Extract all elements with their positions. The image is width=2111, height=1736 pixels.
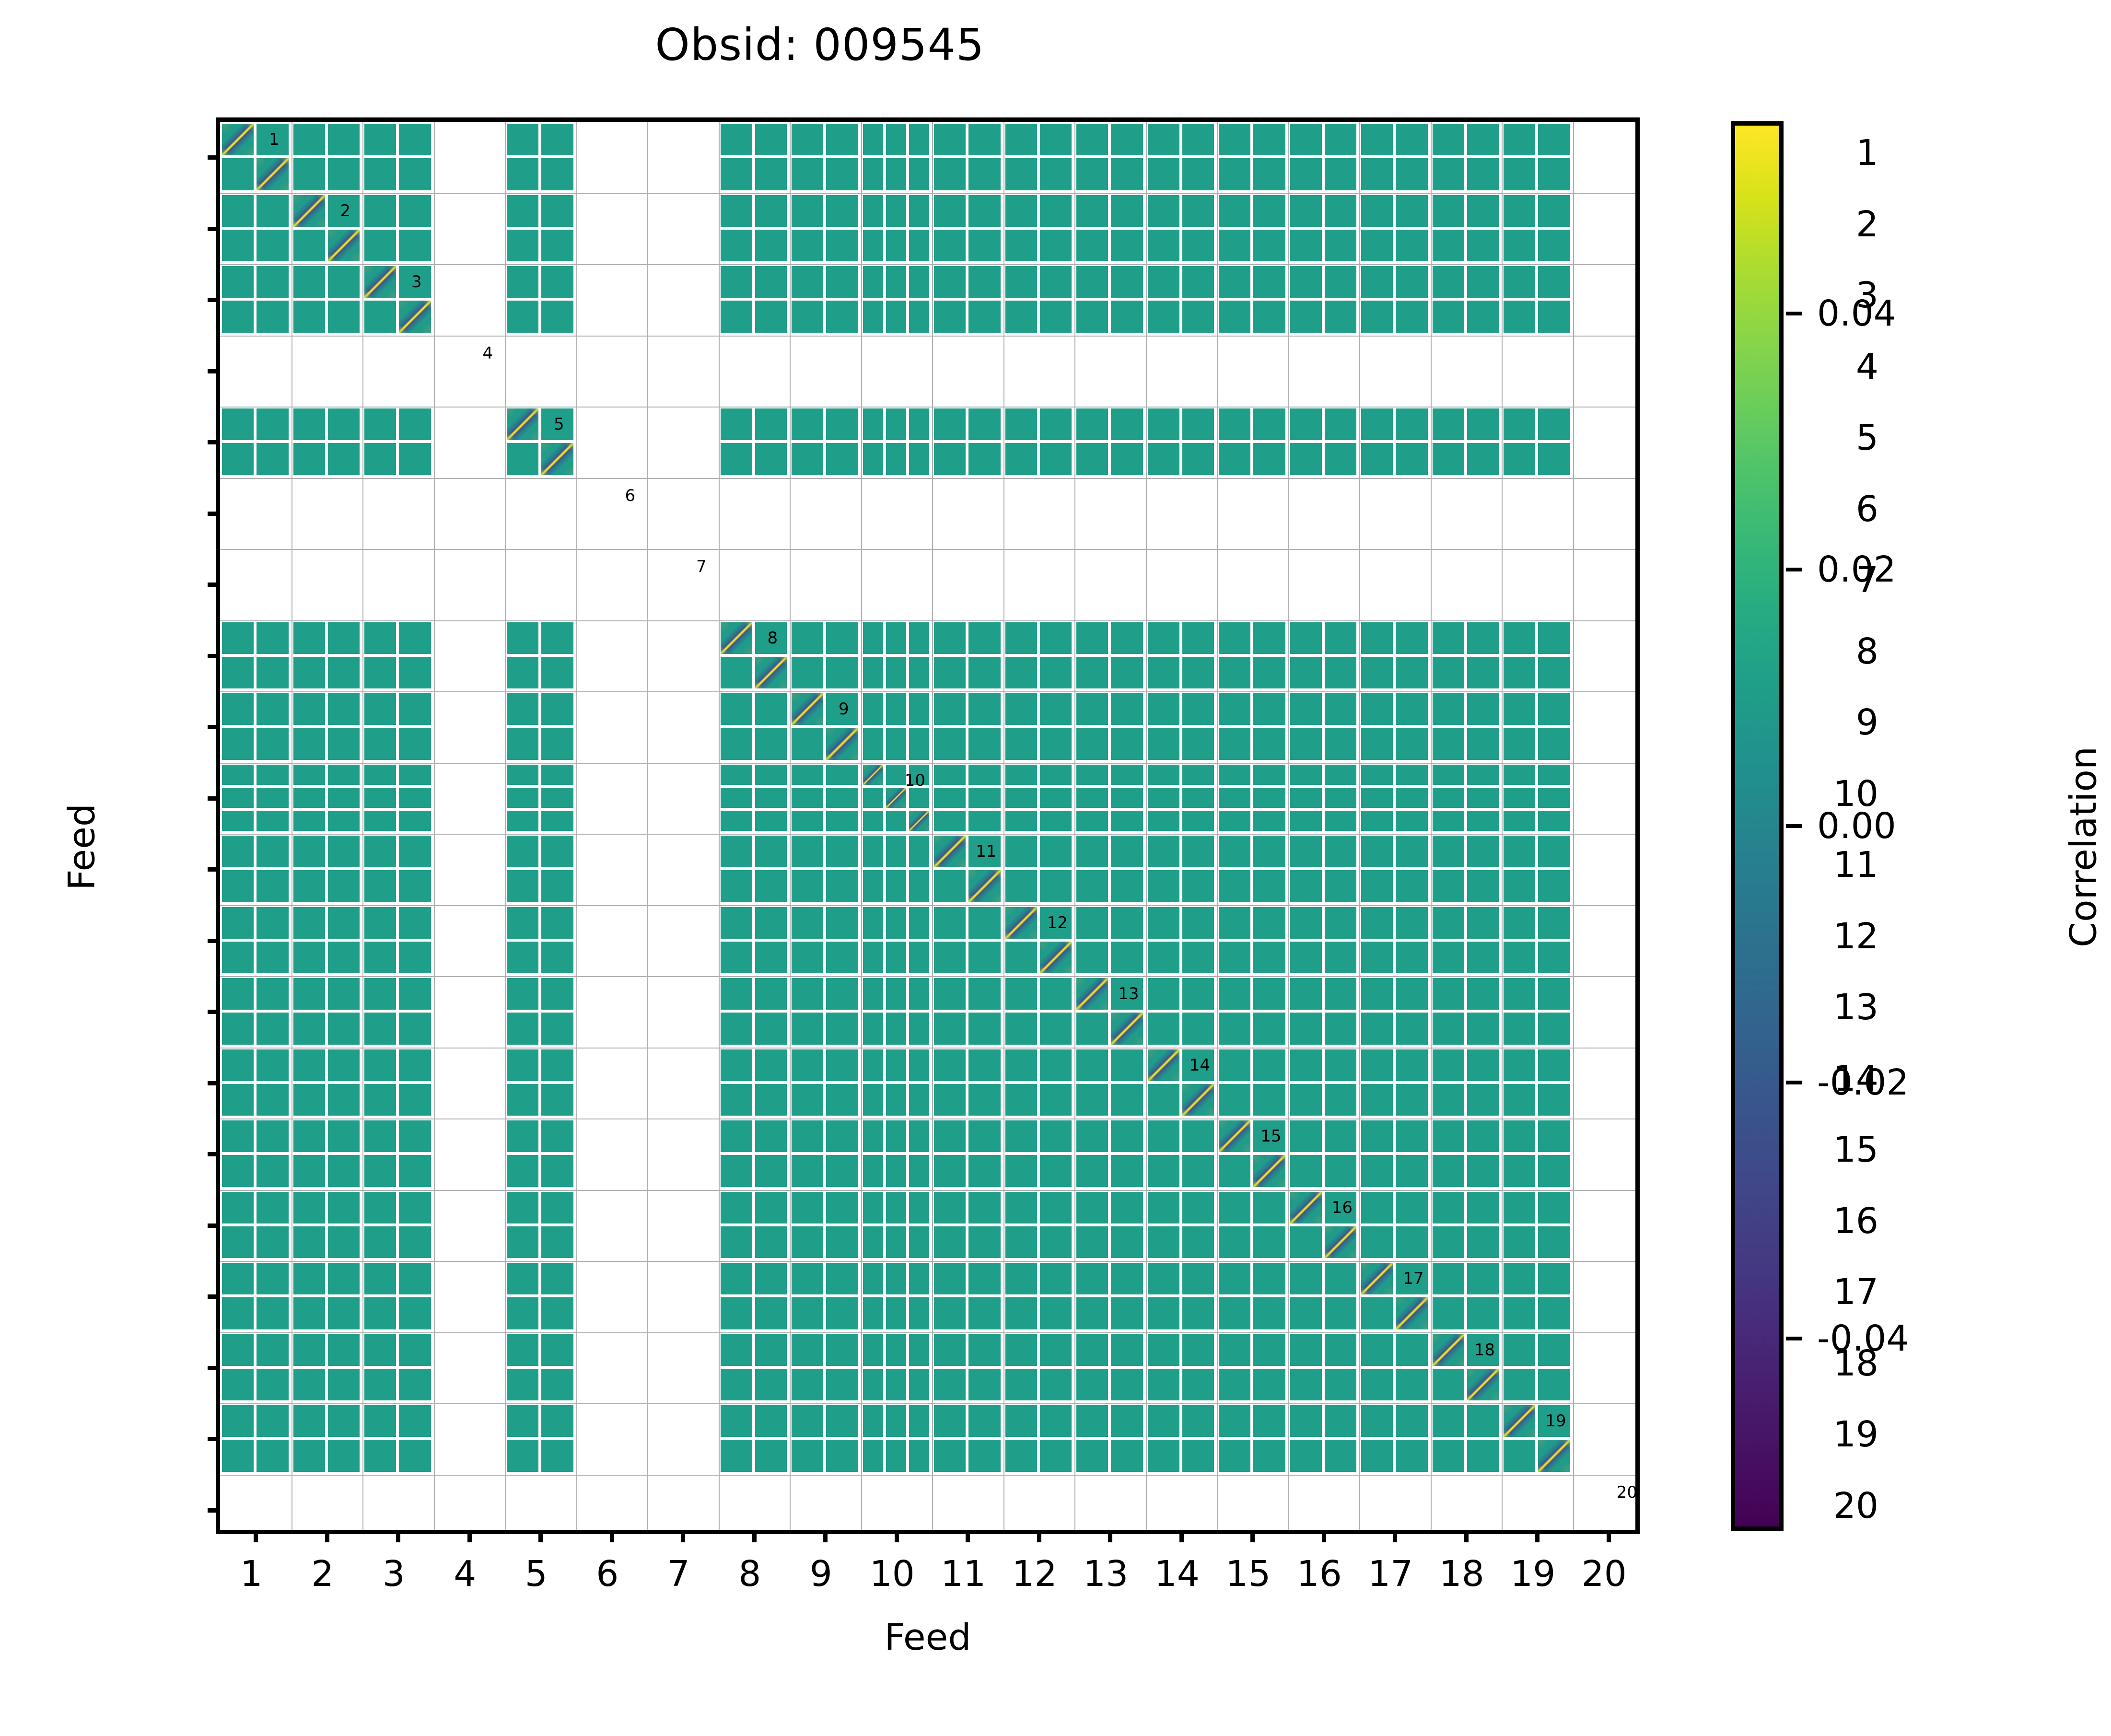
gridline-vertical [576,122,577,1530]
matrix-cell [1325,1263,1356,1294]
matrix-cell [328,870,360,902]
matrix-cell [863,124,883,155]
matrix-cell [1433,1369,1464,1400]
matrix-cell [399,765,431,785]
colorbar-tick-label: 0.04 [1817,293,1896,334]
matrix-cell [257,693,288,725]
matrix-cell [222,1192,254,1223]
matrix-cell [909,301,929,332]
x-axis-tick-label: 19 [1510,1553,1555,1595]
matrix-cell [1504,1334,1535,1366]
gridline-horizontal [220,1048,1635,1049]
matrix-cell [1538,230,1570,261]
matrix-cell [507,765,538,785]
matrix-cell [1538,124,1570,155]
matrix-cell [399,1155,431,1187]
matrix-cell [1005,1440,1037,1471]
matrix-cell [1325,301,1356,332]
matrix-cell [826,408,858,440]
matrix-cell-diagonal [293,195,325,227]
matrix-cell [1219,195,1250,227]
matrix-cell [1538,1369,1570,1400]
matrix-cell [1467,158,1499,190]
matrix-cell [968,158,1000,190]
x-axis-tick [467,1530,472,1542]
matrix-cell [1467,195,1499,227]
matrix-cell [934,1369,966,1400]
matrix-cell [1040,230,1072,261]
matrix-cell [1111,1263,1143,1294]
x-axis-tick-label: 12 [1012,1553,1057,1595]
matrix-cell [1219,1405,1250,1437]
matrix-cell [541,1013,573,1044]
matrix-cell [1005,1405,1037,1437]
matrix-cell [1148,124,1179,155]
matrix-cell [541,230,573,261]
matrix-cell [1219,870,1250,902]
matrix-cell [1325,1013,1356,1044]
matrix-cell [257,1440,288,1471]
matrix-cell [1148,907,1179,939]
feed-number-annotation: 20 [1617,1484,1637,1501]
matrix-cell [886,124,906,155]
matrix-cell [1253,870,1285,902]
matrix-cell [1076,870,1108,902]
matrix-cell [863,811,883,831]
matrix-cell-diagonal [1467,1369,1499,1400]
x-axis-tick [1464,1530,1469,1542]
matrix-cell [399,657,431,688]
matrix-cell [1005,693,1037,725]
colorbar-tick [1786,1081,1802,1084]
matrix-cell [721,1192,752,1223]
matrix-cell [1005,811,1037,831]
x-axis-tick [823,1530,828,1542]
matrix-cell [1396,230,1427,261]
matrix-cell-diagonal [934,836,966,867]
matrix-cell [792,978,823,1010]
matrix-cell [1148,443,1179,475]
matrix-cell [328,124,360,155]
y-axis-tick [208,1152,220,1156]
matrix-cell [1040,1405,1072,1437]
matrix-cell [968,266,1000,298]
x-axis-tick-label: 9 [810,1553,832,1595]
matrix-cell-diagonal [1040,942,1072,973]
matrix-cell [721,978,752,1010]
matrix-cell [1361,1049,1393,1081]
matrix-cell [1182,811,1214,831]
matrix-cell [507,811,538,831]
matrix-cell [1396,1226,1427,1258]
x-axis-tick [1037,1530,1041,1542]
matrix-cell [1504,1155,1535,1187]
matrix-cell [1504,408,1535,440]
matrix-cell [399,978,431,1010]
matrix-cell [968,1049,1000,1081]
matrix-cell [1290,1405,1322,1437]
matrix-cell-diagonal [1076,978,1108,1010]
matrix-cell [1148,408,1179,440]
matrix-cell [364,1405,396,1437]
heatmap-axes: 1234567891011121314151617181920 [216,117,1640,1534]
feed-number-annotation: 2 [340,203,351,219]
matrix-cell [968,1120,1000,1152]
matrix-cell [755,1334,787,1366]
matrix-cell [1325,1405,1356,1437]
matrix-cell [863,907,883,939]
matrix-cell [934,693,966,725]
matrix-cell [257,301,288,332]
matrix-cell [826,1192,858,1223]
matrix-cell [1290,443,1322,475]
x-axis-tick [1108,1530,1112,1542]
y-axis-tick [208,1010,220,1014]
matrix-cell [1467,1297,1499,1329]
matrix-cell [399,870,431,902]
matrix-cell [1111,1155,1143,1187]
x-axis-tick-label: 6 [596,1553,618,1595]
matrix-cell [1325,158,1356,190]
matrix-cell [863,1405,883,1437]
matrix-cell [507,1334,538,1366]
matrix-cell [755,728,787,759]
matrix-cell [257,1013,288,1044]
matrix-cell-diagonal [1396,1297,1427,1329]
matrix-cell [1182,158,1214,190]
matrix-cell [1504,1226,1535,1258]
matrix-cell [1111,1369,1143,1400]
matrix-cell [328,942,360,973]
matrix-cell [328,622,360,654]
matrix-cell [1219,728,1250,759]
feed-number-annotation: 7 [696,559,707,575]
matrix-cell [1467,408,1499,440]
matrix-cell [1325,1084,1356,1116]
matrix-cell [541,907,573,939]
matrix-cell [826,907,858,939]
matrix-cell [293,1084,325,1116]
feed-number-annotation: 13 [1118,986,1139,1002]
matrix-cell [222,1263,254,1294]
matrix-cell [507,1405,538,1437]
matrix-cell [1148,836,1179,867]
matrix-cell [1111,158,1143,190]
matrix-cell [399,1405,431,1437]
matrix-cell [507,1192,538,1223]
matrix-cell [257,978,288,1010]
matrix-cell [721,1369,752,1400]
matrix-cell [1148,657,1179,688]
matrix-cell [222,811,254,831]
matrix-cell [1111,1226,1143,1258]
x-axis-tick-label: 16 [1297,1553,1342,1595]
matrix-cell [1467,765,1499,785]
matrix-cell [399,1084,431,1116]
matrix-cell [721,942,752,973]
matrix-cell [1182,978,1214,1010]
x-axis-tick-label: 10 [870,1553,915,1595]
matrix-cell [364,1013,396,1044]
matrix-cell [399,1369,431,1400]
y-axis-tick [208,725,220,729]
matrix-cell-diagonal [1182,1084,1214,1116]
matrix-cell [1504,765,1535,785]
gridline-horizontal [220,264,1635,265]
matrix-cell [293,1440,325,1471]
matrix-cell [399,1263,431,1294]
matrix-cell [507,978,538,1010]
matrix-cell [1182,1405,1214,1437]
matrix-cell [1325,1369,1356,1400]
matrix-cell [826,1049,858,1081]
matrix-cell [399,1120,431,1152]
matrix-cell [1433,1155,1464,1187]
matrix-cell [1538,693,1570,725]
matrix-cell [1433,1226,1464,1258]
matrix-cell [1538,1226,1570,1258]
matrix-cell [1040,811,1072,831]
matrix-cell [1433,907,1464,939]
matrix-cell [399,1297,431,1329]
matrix-cell [257,266,288,298]
matrix-cell [541,1334,573,1366]
matrix-cell [909,1369,929,1400]
x-axis-tick [1250,1530,1255,1542]
matrix-cell [886,443,906,475]
matrix-cell [886,230,906,261]
matrix-cell [886,693,906,725]
matrix-cell [1182,728,1214,759]
matrix-cell [826,657,858,688]
y-axis-tick-label: 5 [1856,417,1878,458]
matrix-cell [257,788,288,808]
matrix-cell [1433,811,1464,831]
x-axis-tick-label: 17 [1368,1553,1413,1595]
matrix-cell [886,942,906,973]
matrix-cell [721,1263,752,1294]
matrix-cell [1467,124,1499,155]
matrix-cell [293,788,325,808]
matrix-cell [1433,124,1464,155]
matrix-cell [792,1192,823,1223]
matrix-cell [328,1013,360,1044]
matrix-cell [1538,1192,1570,1223]
matrix-cell [934,788,966,808]
matrix-cell [886,811,906,831]
matrix-cell [1148,1440,1179,1471]
matrix-cell [328,836,360,867]
matrix-cell [328,765,360,785]
matrix-cell [1219,1297,1250,1329]
matrix-cell [1219,230,1250,261]
matrix-cell [399,1334,431,1366]
matrix-cell [721,1155,752,1187]
matrix-cell [886,622,906,654]
matrix-cell [1040,693,1072,725]
matrix-cell [1040,1049,1072,1081]
matrix-cell [1040,978,1072,1010]
matrix-cell [1253,1049,1285,1081]
matrix-cell [1253,1297,1285,1329]
matrix-cell [1253,811,1285,831]
matrix-cell [968,907,1000,939]
matrix-cell [293,408,325,440]
matrix-cell [1148,765,1179,785]
matrix-cell [1396,158,1427,190]
matrix-cell [1182,1334,1214,1366]
matrix-cell [1040,728,1072,759]
matrix-cell [721,443,752,475]
y-axis-tick [208,369,220,373]
x-axis-tick [1607,1530,1611,1542]
matrix-cell [257,657,288,688]
matrix-cell [1111,1405,1143,1437]
colorbar-tick [1786,824,1802,828]
matrix-cell [934,622,966,654]
gridline-vertical [932,122,933,1530]
y-axis-tick [208,1508,220,1513]
matrix-cell [826,836,858,867]
matrix-cell [1005,124,1037,155]
matrix-cell [1219,1084,1250,1116]
matrix-cell [399,230,431,261]
matrix-cell [1361,1334,1393,1366]
matrix-cell [541,836,573,867]
matrix-cell [826,622,858,654]
matrix-cell [909,693,929,725]
matrix-cell [1111,942,1143,973]
matrix-cell [721,788,752,808]
matrix-cell [863,870,883,902]
matrix-cell-diagonal [863,765,883,785]
matrix-cell [222,1226,254,1258]
matrix-cell [1504,195,1535,227]
matrix-cell [1433,1120,1464,1152]
matrix-cell [1076,443,1108,475]
matrix-cell [1325,811,1356,831]
matrix-cell [886,1084,906,1116]
matrix-cell [909,1084,929,1116]
matrix-cell [364,230,396,261]
colorbar-tick-label: 0.00 [1817,805,1896,847]
gridline-vertical [1217,122,1218,1530]
matrix-cell [1467,907,1499,939]
matrix-cell-diagonal [328,230,360,261]
matrix-cell [1111,408,1143,440]
gridline-horizontal [220,1475,1635,1476]
x-axis-tick [966,1530,970,1542]
x-axis-tick [396,1530,400,1542]
matrix-cell [1182,657,1214,688]
matrix-cell [257,1263,288,1294]
feed-number-annotation: 17 [1403,1270,1423,1287]
matrix-cell [886,301,906,332]
matrix-cell [909,266,929,298]
matrix-cell [1361,811,1393,831]
matrix-cell [1040,408,1072,440]
matrix-cell [1076,788,1108,808]
matrix-cell [792,1226,823,1258]
matrix-cell [1504,124,1535,155]
matrix-cell [1005,1334,1037,1366]
matrix-cell [1467,978,1499,1010]
matrix-cell [721,1405,752,1437]
matrix-cell [721,1049,752,1081]
matrix-cell [399,907,431,939]
matrix-cell-diagonal [507,408,538,440]
matrix-cell [934,765,966,785]
matrix-cell [257,836,288,867]
matrix-cell [934,230,966,261]
matrix-cell [1290,811,1322,831]
matrix-cell [1111,693,1143,725]
matrix-cell [1219,124,1250,155]
matrix-cell [1076,907,1108,939]
gridline-vertical [861,122,862,1530]
matrix-cell [1504,1120,1535,1152]
feed-number-annotation: 5 [554,416,564,432]
matrix-cell [909,158,929,190]
matrix-cell [364,1334,396,1366]
matrix-cell [909,1440,929,1471]
matrix-cell [1005,1084,1037,1116]
matrix-cell [293,870,325,902]
matrix-cell [1467,728,1499,759]
matrix-cell [721,728,752,759]
matrix-cell [541,693,573,725]
matrix-cell [792,622,823,654]
matrix-cell [755,1405,787,1437]
matrix-cell [1182,1120,1214,1152]
correlation-matrix: 1234567891011121314151617181920 [220,122,1635,1530]
matrix-cell [1076,408,1108,440]
y-axis-tick-label: 11 [1833,844,1878,885]
matrix-cell [1219,1334,1250,1366]
matrix-cell [1396,301,1427,332]
gridline-horizontal [220,834,1635,835]
matrix-cell [1361,124,1393,155]
matrix-cell [364,942,396,973]
matrix-cell [792,811,823,831]
matrix-cell [1325,657,1356,688]
matrix-cell [328,1226,360,1258]
matrix-cell [934,1049,966,1081]
matrix-cell [364,1192,396,1223]
matrix-cell [968,1405,1000,1437]
matrix-cell [1148,1192,1179,1223]
matrix-cell [1040,1013,1072,1044]
matrix-cell [886,1297,906,1329]
matrix-cell [1396,1405,1427,1437]
matrix-cell [1504,230,1535,261]
colorbar-tick-label: -0.04 [1817,1318,1909,1359]
matrix-cell [934,978,966,1010]
matrix-cell [826,1013,858,1044]
matrix-cell [1467,1263,1499,1294]
matrix-cell [1290,1049,1322,1081]
matrix-cell [1433,408,1464,440]
matrix-cell [886,978,906,1010]
matrix-cell [1182,195,1214,227]
matrix-cell [328,978,360,1010]
matrix-cell [826,1120,858,1152]
matrix-cell [792,1120,823,1152]
matrix-cell [1005,788,1037,808]
x-axis-tick [1535,1530,1540,1542]
feed-number-annotation: 9 [839,701,849,717]
matrix-cell [399,942,431,973]
